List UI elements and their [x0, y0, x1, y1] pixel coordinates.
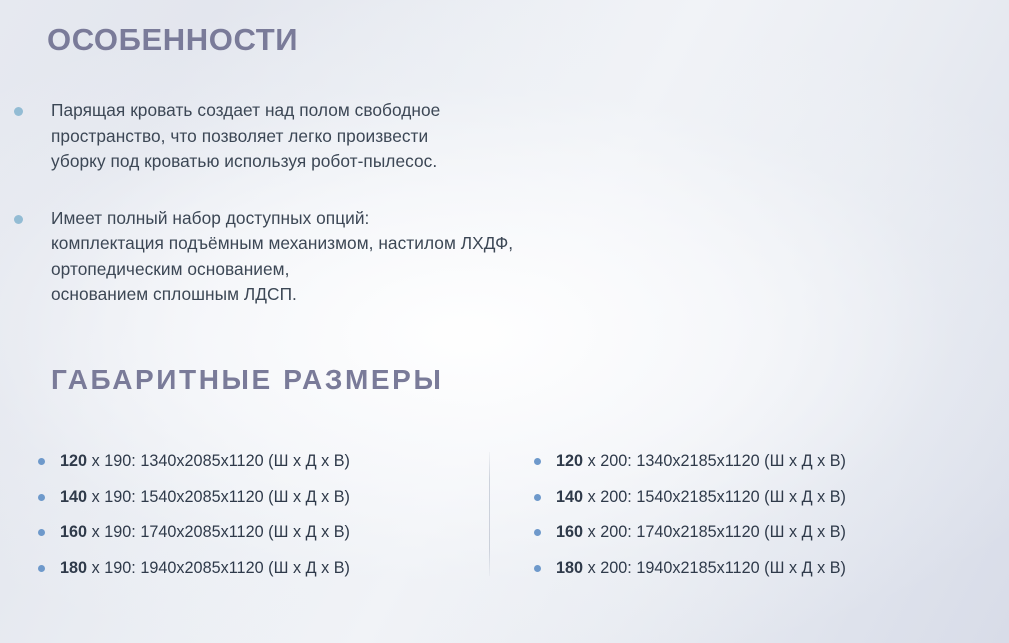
dimension-detail: x 200: 1940x2185x1120	[583, 559, 760, 577]
dimension-note: (Ш х Д х В)	[264, 488, 350, 506]
bullet-dot-icon	[38, 529, 45, 536]
dimension-detail: x 200: 1340x2185x1120	[583, 452, 760, 470]
dimension-note: (Ш х Д х В)	[760, 559, 846, 577]
dimensions-column-190: 120 x 190: 1340x2085x1120 (Ш х Д х В) 14…	[0, 452, 489, 594]
feature-item-text: Парящая кровать создает над полом свобод…	[51, 98, 714, 175]
bullet-dot-icon	[534, 565, 541, 572]
feature-list-item: Парящая кровать создает над полом свобод…	[14, 98, 714, 175]
dimension-note: (Ш х Д х В)	[760, 488, 846, 506]
feature-list-item: Имеет полный набор доступных опций: комп…	[14, 206, 714, 308]
dimension-row: 120 x 200: 1340x2185x1120 (Ш х Д х В)	[534, 452, 1009, 471]
dimension-row: 160 x 200: 1740x2185x1120 (Ш х Д х В)	[534, 523, 1009, 542]
dimension-size: 180	[556, 559, 583, 577]
slide-root: ОСОБЕННОСТИ Парящая кровать создает над …	[0, 0, 1009, 643]
dimensions-column-200: 120 x 200: 1340x2185x1120 (Ш х Д х В) 14…	[489, 452, 1009, 594]
feature-item-text: Имеет полный набор доступных опций: комп…	[51, 206, 714, 308]
dimension-note: (Ш х Д х В)	[760, 452, 846, 470]
dimension-size: 160	[60, 523, 87, 541]
bullet-dot-icon	[38, 458, 45, 465]
dimension-row: 180 x 190: 1940x2085x1120 (Ш х Д х В)	[38, 559, 489, 578]
dimensions-columns: 120 x 190: 1340x2085x1120 (Ш х Д х В) 14…	[0, 452, 1009, 594]
dimension-size: 140	[556, 488, 583, 506]
dimension-size: 140	[60, 488, 87, 506]
dimension-note: (Ш х Д х В)	[264, 452, 350, 470]
dimension-detail: x 190: 1940x2085x1120	[87, 559, 264, 577]
bullet-dot-icon	[534, 529, 541, 536]
dimension-detail: x 200: 1740x2185x1120	[583, 523, 760, 541]
dimension-row: 140 x 200: 1540x2185x1120 (Ш х Д х В)	[534, 488, 1009, 507]
dimension-note: (Ш х Д х В)	[760, 523, 846, 541]
bullet-dot-icon	[14, 107, 23, 116]
dimension-size: 160	[556, 523, 583, 541]
dimension-row: 140 x 190: 1540x2085x1120 (Ш х Д х В)	[38, 488, 489, 507]
bullet-dot-icon	[38, 494, 45, 501]
dimension-detail: x 190: 1340x2085x1120	[87, 452, 264, 470]
bullet-dot-icon	[14, 215, 23, 224]
bullet-dot-icon	[38, 565, 45, 572]
dimension-row: 180 x 200: 1940x2185x1120 (Ш х Д х В)	[534, 559, 1009, 578]
dimension-row: 160 x 190: 1740x2085x1120 (Ш х Д х В)	[38, 523, 489, 542]
bullet-dot-icon	[534, 494, 541, 501]
dimension-size: 120	[556, 452, 583, 470]
bullet-dot-icon	[534, 458, 541, 465]
dimension-size: 120	[60, 452, 87, 470]
dimension-size: 180	[60, 559, 87, 577]
dimension-note: (Ш х Д х В)	[264, 523, 350, 541]
dimension-detail: x 190: 1540x2085x1120	[87, 488, 264, 506]
dimensions-heading: ГАБАРИТНЫЕ РАЗМЕРЫ	[51, 364, 443, 396]
dimension-row: 120 x 190: 1340x2085x1120 (Ш х Д х В)	[38, 452, 489, 471]
features-heading: ОСОБЕННОСТИ	[47, 22, 298, 58]
dimension-detail: x 200: 1540x2185x1120	[583, 488, 760, 506]
dimension-detail: x 190: 1740x2085x1120	[87, 523, 264, 541]
dimension-note: (Ш х Д х В)	[264, 559, 350, 577]
features-list: Парящая кровать создает над полом свобод…	[14, 98, 714, 339]
